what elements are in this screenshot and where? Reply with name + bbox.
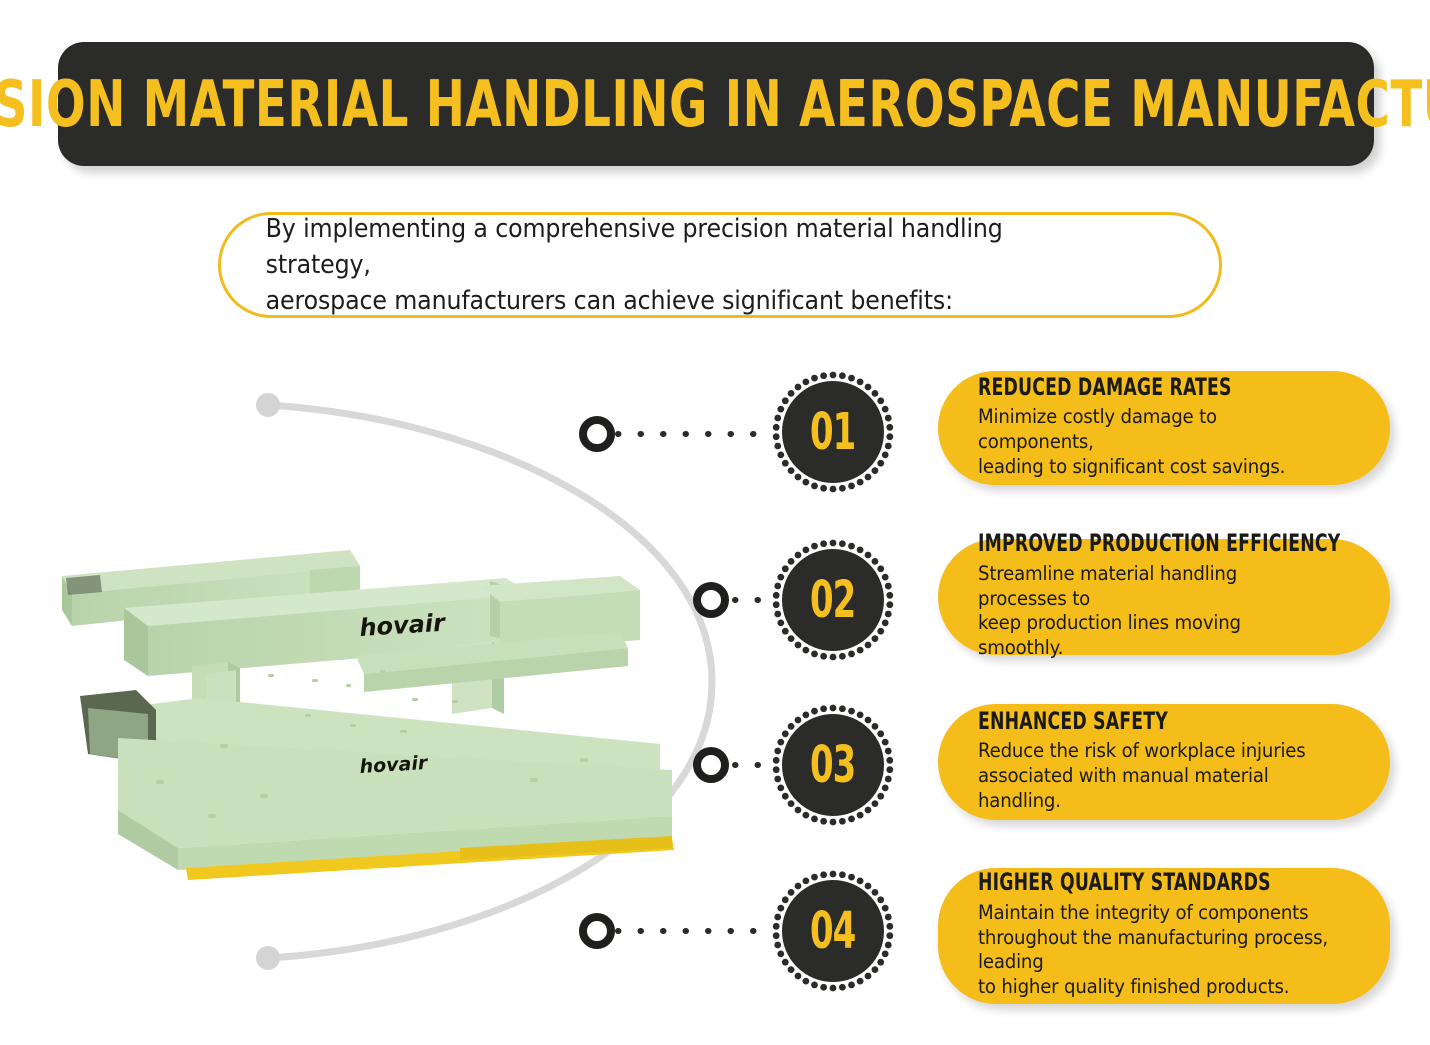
brand-logo-bottom: hovair [359,752,429,778]
hovair-lift-table-illustration: hovair hovair [60,548,720,883]
arc-endpoint-top-dot [256,393,280,417]
brand-logo-top: hovair [359,609,448,642]
benefit-number: 04 [810,906,855,957]
badge-disc: 02 [782,549,884,651]
badge-disc: 03 [782,714,884,816]
page-title-bar: PRECISION MATERIAL HANDLING IN AEROSPACE… [58,42,1374,166]
upper-notch [66,575,102,595]
arc-endpoint-bottom-dot [256,946,280,970]
benefit-card-title: ENHANCED SAFETY [978,709,1341,734]
benefit-card-3[interactable]: ENHANCED SAFETY Reduce the risk of workp… [938,704,1390,820]
benefit-number-badge-4: 04 [770,868,896,994]
benefit-card-4[interactable]: HIGHER QUALITY STANDARDS Maintain the in… [938,868,1390,1004]
benefit-card-desc: Streamline material handling processes t… [978,562,1330,661]
arc-node-4 [583,917,611,945]
intro-callout: By implementing a comprehensive precisio… [218,212,1222,318]
benefit-card-desc: Maintain the integrity of components thr… [978,901,1330,1000]
benefit-number: 02 [810,575,855,626]
benefit-card-desc: Minimize costly damage to components, le… [978,405,1330,479]
benefit-card-1[interactable]: REDUCED DAMAGE RATES Minimize costly dam… [938,371,1390,485]
benefit-number-badge-1: 01 [770,369,896,495]
benefit-card-2[interactable]: IMPROVED PRODUCTION EFFICIENCY Streamlin… [938,539,1390,655]
page-title: PRECISION MATERIAL HANDLING IN AEROSPACE… [0,72,1430,136]
benefit-card-title: REDUCED DAMAGE RATES [978,375,1341,400]
benefit-card-desc: Reduce the risk of workplace injuries as… [978,739,1330,813]
badge-disc: 04 [782,880,884,982]
benefit-number-badge-2: 02 [770,537,896,663]
badge-disc: 01 [782,381,884,483]
benefit-number: 03 [810,740,855,791]
arc-node-1 [583,420,611,448]
benefit-number: 01 [810,407,855,458]
benefit-number-badge-3: 03 [770,702,896,828]
intro-text: By implementing a comprehensive precisio… [221,211,1149,320]
benefit-card-title: HIGHER QUALITY STANDARDS [978,870,1341,895]
benefit-card-title: IMPROVED PRODUCTION EFFICIENCY [978,531,1341,556]
